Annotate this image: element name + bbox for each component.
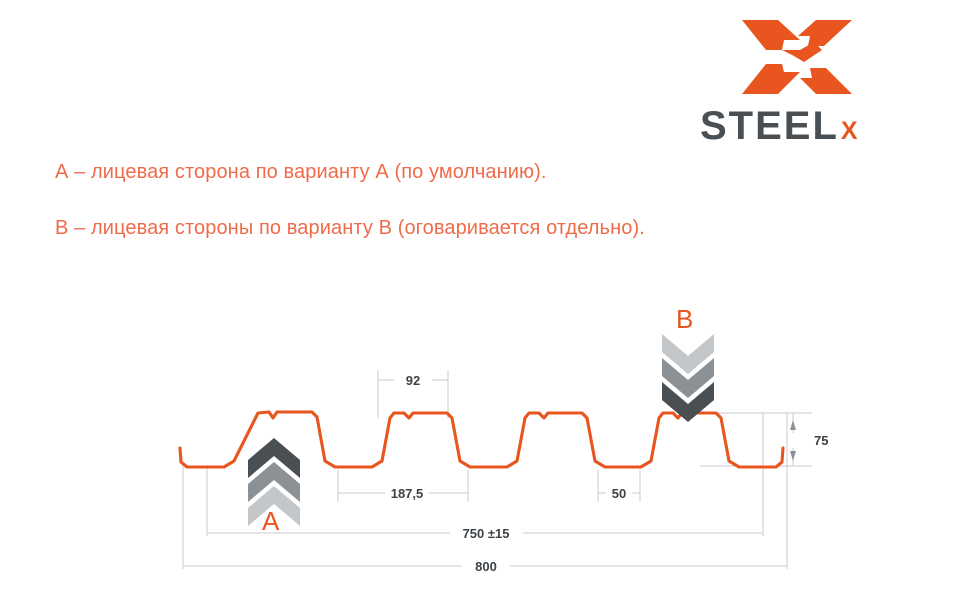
caption-variant-a: А – лицевая сторона по варианту А (по ум… — [55, 161, 547, 184]
dim-label-750: 750 ±15 — [463, 526, 510, 541]
wordmark-x-superscript: X — [841, 119, 858, 144]
marker-letter-a: A — [262, 508, 279, 534]
dim-label-75: 75 — [814, 433, 828, 448]
steelx-wordmark: STEEL X — [700, 106, 920, 146]
steelx-x-mark-icon — [738, 18, 858, 96]
marker-b-chevrons — [662, 334, 714, 422]
dim-label-50: 50 — [612, 486, 626, 501]
dim-label-92: 92 — [406, 373, 420, 388]
height-arrow-heads — [790, 420, 796, 461]
dim-label-187-5: 187,5 — [391, 486, 424, 501]
dim-label-800: 800 — [475, 559, 497, 574]
caption-variant-b: В – лицевая стороны по варианту В (огова… — [55, 217, 645, 240]
wordmark-steel: STEEL — [700, 106, 839, 146]
marker-letter-b: B — [676, 306, 693, 332]
drawing-page: STEEL X А – лицевая сторона по варианту … — [0, 0, 970, 597]
steelx-logo: STEEL X — [700, 18, 920, 143]
profile-technical-drawing: 92 187,5 50 75 750 ±15 800 — [0, 270, 970, 597]
